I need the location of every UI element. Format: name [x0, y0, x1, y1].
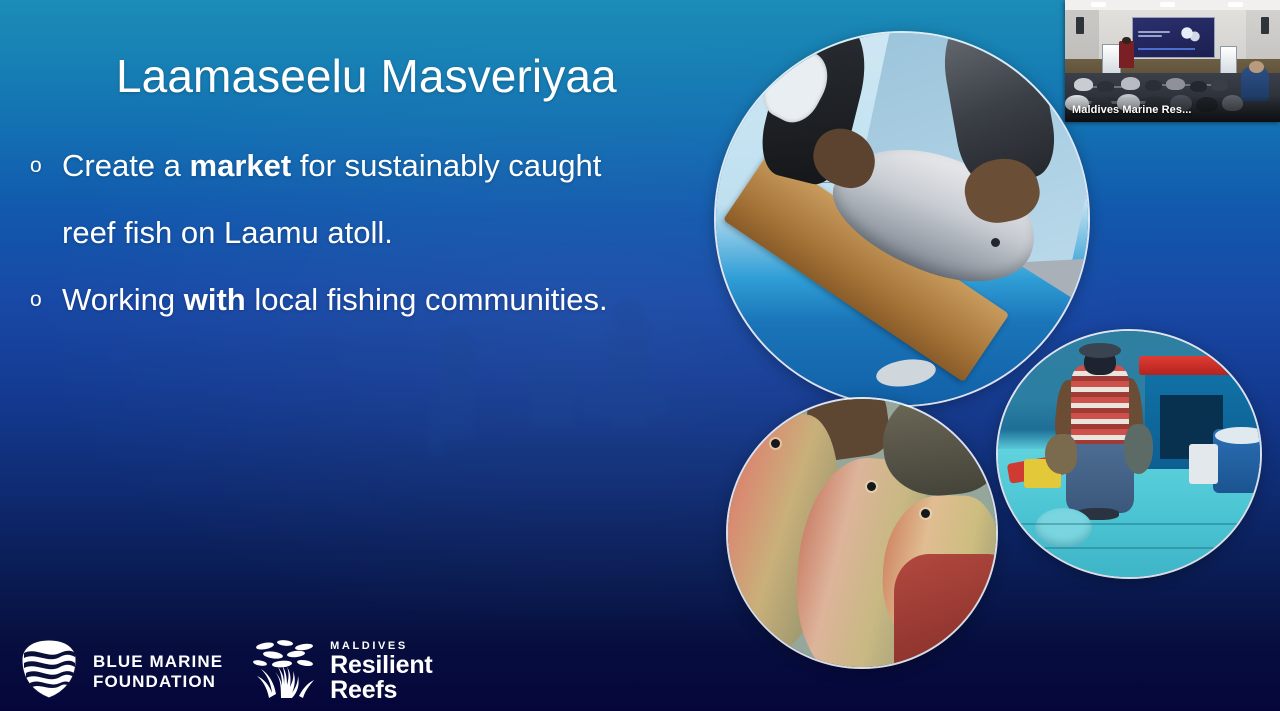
photo-reef-fish-catch [726, 397, 998, 669]
bullet-line: Create a [62, 148, 190, 183]
screen: Laamaseelu Masveriyaa o Create a market … [0, 0, 1280, 711]
logo-blue-marine-foundation: BLUE MARINE FOUNDATION [18, 638, 223, 705]
logo-line-1: Resilient [330, 653, 432, 678]
footer-logo-row: BLUE MARINE FOUNDATION [18, 638, 433, 705]
bullet-text: Create a market for sustainably caught [62, 132, 710, 199]
fish-coral-icon [251, 638, 317, 705]
bullet-line: local fishing communities. [246, 282, 608, 317]
participant-video-tile[interactable]: Maldives Marine Res... [1065, 0, 1280, 122]
bullet-emphasis: market [190, 148, 292, 183]
bullet-line: for sustainably caught [291, 148, 601, 183]
bullet-item-continuation: reef fish on Laamu atoll. [30, 199, 710, 266]
bullet-text: Working with local fishing communities. [62, 266, 710, 333]
bullet-item: o Working with local fishing communities… [30, 266, 710, 333]
participant-name: Maldives Marine Res... [1072, 104, 1192, 116]
bullet-emphasis: with [184, 282, 246, 317]
bullet-item: o Create a market for sustainably caught [30, 132, 710, 199]
slide-bullet-list: o Create a market for sustainably caught… [30, 132, 710, 333]
logo-line-2: FOUNDATION [93, 672, 223, 691]
logo-wordmark: MALDIVES Resilient Reefs [330, 640, 432, 703]
photo-fisherman-on-boat [996, 329, 1262, 579]
bullet-line: Working [62, 282, 184, 317]
participant-name-bar: Maldives Marine Res... [1065, 97, 1280, 122]
logo-wordmark: BLUE MARINE FOUNDATION [93, 652, 223, 690]
bullet-line: reef fish on Laamu atoll. [62, 199, 710, 266]
logo-line-1: BLUE MARINE [93, 652, 223, 671]
logo-maldives-resilient-reefs: MALDIVES Resilient Reefs [251, 638, 432, 705]
bullet-marker: o [30, 132, 62, 199]
bullet-marker: o [30, 266, 62, 333]
projection-screen [1132, 17, 1216, 58]
wave-shield-icon [18, 638, 80, 705]
slide-title: Laamaseelu Masveriyaa [116, 51, 617, 102]
logo-line-2: Reefs [330, 678, 432, 703]
